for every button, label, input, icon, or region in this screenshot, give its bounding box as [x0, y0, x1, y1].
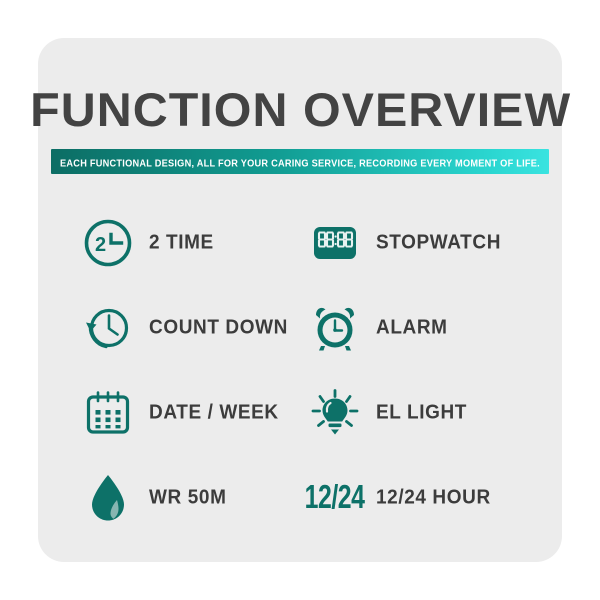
twelve-twentyfour-icon-text: 12/24: [305, 479, 365, 517]
feature-item-count-down[interactable]: COUNT DOWN: [38, 285, 303, 370]
feature-label: WR 50M: [149, 486, 227, 510]
feature-row: DATE / WEEK: [38, 370, 562, 455]
feature-label: DATE / WEEK: [149, 401, 279, 425]
count-down-clock-icon: [79, 299, 137, 357]
calendar-icon: [79, 384, 137, 442]
feature-item-alarm[interactable]: ALARM: [303, 285, 562, 370]
stopwatch-icon: [306, 214, 364, 272]
feature-item-el-light[interactable]: EL LIGHT: [303, 370, 562, 455]
feature-row: COUNT DOWN: [38, 285, 562, 370]
feature-row: WR 50M 12/24 12/24 HOUR: [38, 455, 562, 540]
feature-label: 2 TIME: [149, 231, 214, 255]
feature-card: FUNCTION OVERVIEW EACH FUNCTIONAL DESIGN…: [38, 38, 562, 562]
alarm-clock-icon: [306, 299, 364, 357]
feature-label: STOPWATCH: [376, 231, 501, 255]
page-title: FUNCTION OVERVIEW: [30, 86, 570, 133]
svg-text:2: 2: [95, 234, 106, 256]
feature-item-12-24-hour[interactable]: 12/24 12/24 HOUR: [303, 455, 562, 540]
feature-item-date-week[interactable]: DATE / WEEK: [38, 370, 303, 455]
function-overview-page: FUNCTION OVERVIEW EACH FUNCTIONAL DESIGN…: [0, 0, 600, 600]
feature-label: COUNT DOWN: [149, 316, 288, 340]
feature-item-2-time[interactable]: 2 2 TIME: [38, 200, 303, 285]
feature-row: 2 2 TIME: [38, 200, 562, 285]
card-header: FUNCTION OVERVIEW EACH FUNCTIONAL DESIGN…: [38, 86, 562, 174]
subtitle-banner: EACH FUNCTIONAL DESIGN, ALL FOR YOUR CAR…: [51, 149, 549, 174]
feature-grid: 2 2 TIME: [38, 200, 562, 540]
feature-label: EL LIGHT: [376, 401, 467, 425]
light-bulb-icon: [306, 384, 364, 442]
feature-item-wr-50m[interactable]: WR 50M: [38, 455, 303, 540]
feature-label: ALARM: [376, 316, 448, 340]
feature-label: 12/24 HOUR: [376, 486, 491, 510]
twelve-twentyfour-icon: 12/24: [306, 469, 364, 527]
two-time-clock-icon: 2: [79, 214, 137, 272]
water-drop-icon: [79, 469, 137, 527]
feature-item-stopwatch[interactable]: STOPWATCH: [303, 200, 562, 285]
subtitle-text: EACH FUNCTIONAL DESIGN, ALL FOR YOUR CAR…: [60, 157, 540, 168]
